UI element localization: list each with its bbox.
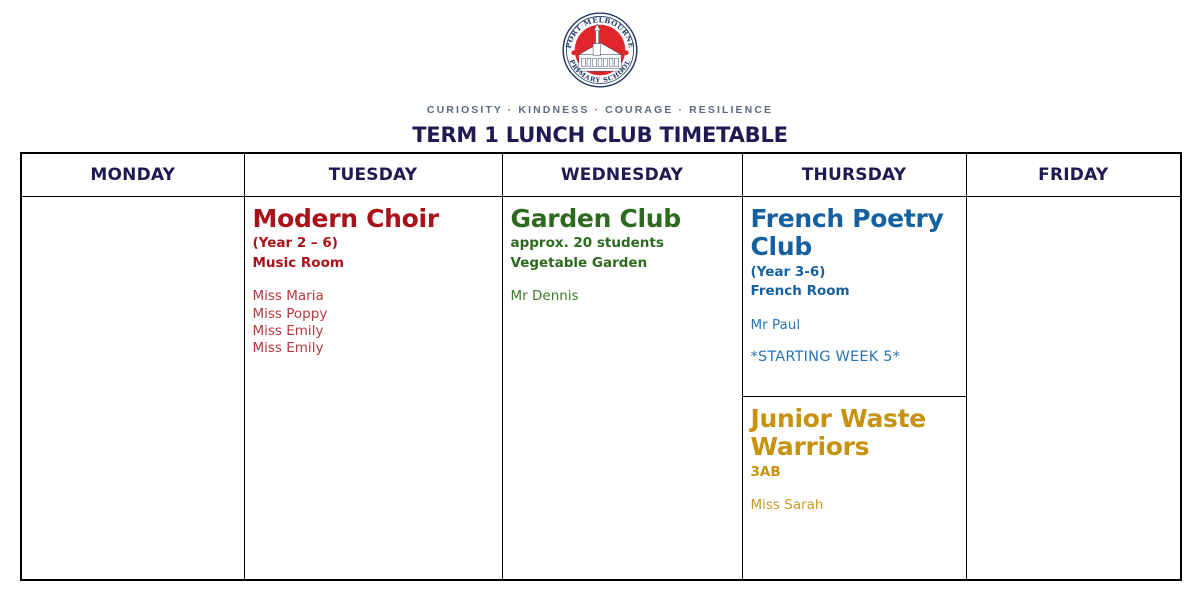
spacer: [751, 482, 959, 497]
club-location-modern-choir: Music Room: [253, 254, 495, 274]
timetable-container: MONDAY TUESDAY WEDNESDAY THURSDAY FRIDAY…: [0, 152, 1200, 581]
club-entry-junior-waste-warriors[interactable]: Junior Waste Warriors 3AB Miss Sarah: [743, 397, 966, 579]
column-header-friday: FRIDAY: [966, 153, 1181, 197]
club-entry-garden-club: Garden Club approx. 20 students Vegetabl…: [503, 197, 742, 316]
club-capacity-garden-club: approx. 20 students: [511, 234, 735, 254]
club-staff-modern-choir-2: Miss Poppy: [253, 306, 495, 323]
spacer: [751, 302, 959, 317]
timetable-header-row: MONDAY TUESDAY WEDNESDAY THURSDAY FRIDAY: [21, 153, 1181, 197]
club-location-garden-club: Vegetable Garden: [511, 254, 735, 274]
column-header-thursday: THURSDAY: [742, 153, 966, 197]
page-header: PORT MELBOURNE PRIMARY SCHOOL CURIOSITY …: [0, 0, 1200, 152]
spacer: [751, 334, 959, 348]
column-header-monday: MONDAY: [21, 153, 244, 197]
cell-friday[interactable]: [966, 197, 1181, 581]
club-year-level-french-poetry-club: (Year 3-6): [751, 263, 959, 283]
spacer: [253, 273, 495, 288]
club-title-modern-choir: Modern Choir: [253, 205, 495, 233]
cell-monday-body: [22, 197, 244, 215]
column-header-tuesday: TUESDAY: [244, 153, 502, 197]
club-entry-modern-choir: Modern Choir (Year 2 – 6) Music Room Mis…: [245, 197, 502, 367]
cell-thursday[interactable]: French Poetry Club (Year 3-6) French Roo…: [742, 197, 966, 581]
club-staff-modern-choir-3: Miss Emily: [253, 323, 495, 340]
club-staff-modern-choir-4: Miss Emily: [253, 340, 495, 357]
lunch-club-timetable: MONDAY TUESDAY WEDNESDAY THURSDAY FRIDAY…: [20, 152, 1182, 581]
timetable-body-row: Modern Choir (Year 2 – 6) Music Room Mis…: [21, 197, 1181, 581]
cell-monday[interactable]: [21, 197, 244, 581]
club-staff-modern-choir-1: Miss Maria: [253, 288, 495, 305]
school-values-tagline: CURIOSITY · KINDNESS · COURAGE · RESILIE…: [427, 104, 773, 116]
club-staff-french-poetry-club-1: Mr Paul: [751, 317, 959, 334]
club-title-french-poetry-club: French Poetry Club: [751, 205, 959, 262]
club-staff-junior-waste-warriors-1: Miss Sarah: [751, 497, 959, 514]
club-start-note-french-poetry-club: *STARTING WEEK 5*: [751, 348, 959, 367]
spacer: [511, 273, 735, 288]
cell-tuesday[interactable]: Modern Choir (Year 2 – 6) Music Room Mis…: [244, 197, 502, 581]
club-entry-french-poetry-club[interactable]: French Poetry Club (Year 3-6) French Roo…: [743, 197, 966, 397]
club-location-junior-waste-warriors: 3AB: [751, 463, 959, 483]
club-title-garden-club: Garden Club: [511, 205, 735, 233]
column-header-wednesday: WEDNESDAY: [502, 153, 742, 197]
cell-friday-body: [967, 197, 1181, 215]
club-staff-garden-club-1: Mr Dennis: [511, 288, 735, 305]
club-title-junior-waste-warriors: Junior Waste Warriors: [751, 405, 959, 462]
club-location-french-poetry-club: French Room: [751, 282, 959, 302]
cell-wednesday[interactable]: Garden Club approx. 20 students Vegetabl…: [502, 197, 742, 581]
school-crest-logo: PORT MELBOURNE PRIMARY SCHOOL: [554, 4, 646, 96]
page-title: TERM 1 LUNCH CLUB TIMETABLE: [412, 123, 788, 147]
club-year-level-modern-choir: (Year 2 – 6): [253, 234, 495, 254]
